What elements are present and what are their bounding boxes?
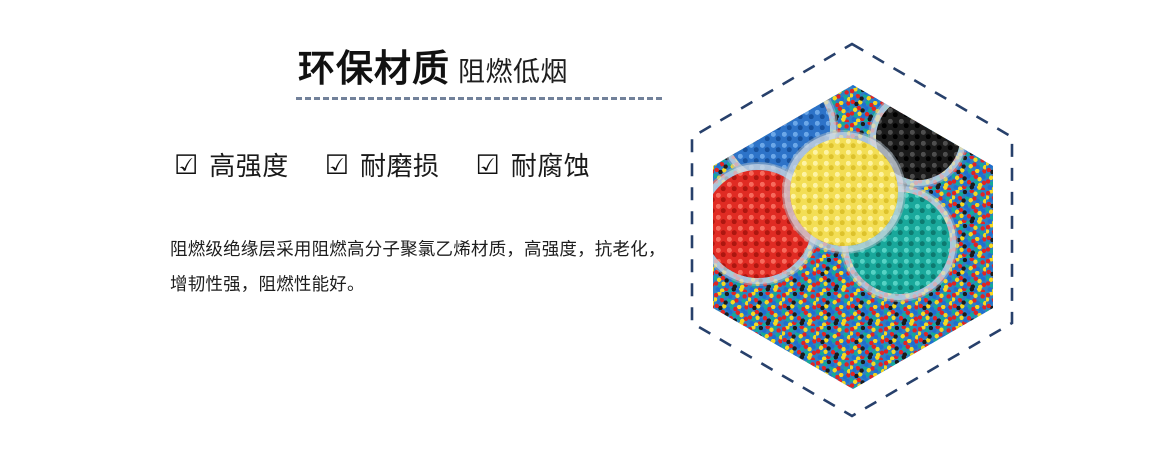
promo-banner: 环保材质阻燃低烟 ☑ 高强度 ☑ 耐磨损 ☑ 耐腐蚀 阻燃级绝缘层采用阻燃高分子… xyxy=(0,0,1169,452)
headline-primary: 环保材质 xyxy=(298,48,450,89)
plastic-pellets-photo xyxy=(680,20,1020,440)
checkbox-checked-icon: ☑ xyxy=(174,152,198,179)
feature-label: 高强度 xyxy=(209,153,289,179)
feature-item-corrosion-resistant: ☑ 耐腐蚀 xyxy=(475,152,590,179)
headline-block: 环保材质阻燃低烟 xyxy=(298,50,664,87)
feature-label: 耐磨损 xyxy=(360,153,440,179)
product-graphic xyxy=(680,20,1020,440)
feature-checklist: ☑ 高强度 ☑ 耐磨损 ☑ 耐腐蚀 xyxy=(174,152,590,179)
checkbox-checked-icon: ☑ xyxy=(475,152,499,179)
feature-label: 耐腐蚀 xyxy=(511,153,591,179)
text-column: 环保材质阻燃低烟 ☑ 高强度 ☑ 耐磨损 ☑ 耐腐蚀 阻燃级绝缘层采用阻燃高分子… xyxy=(0,0,680,452)
headline-dashed-divider xyxy=(296,97,662,100)
page-title: 环保材质阻燃低烟 xyxy=(298,50,664,87)
feature-item-strength: ☑ 高强度 xyxy=(174,152,289,179)
pellet-bowl-yellow xyxy=(790,138,898,246)
feature-item-wear-resistant: ☑ 耐磨损 xyxy=(325,152,440,179)
description-paragraph: 阻燃级绝缘层采用阻燃高分子聚氯乙烯材质，高强度，抗老化，增韧性强，阻燃性能好。 xyxy=(170,232,680,302)
headline-secondary: 阻燃低烟 xyxy=(458,57,568,87)
checkbox-checked-icon: ☑ xyxy=(325,152,349,179)
hexagon-frame-svg xyxy=(680,20,1020,440)
